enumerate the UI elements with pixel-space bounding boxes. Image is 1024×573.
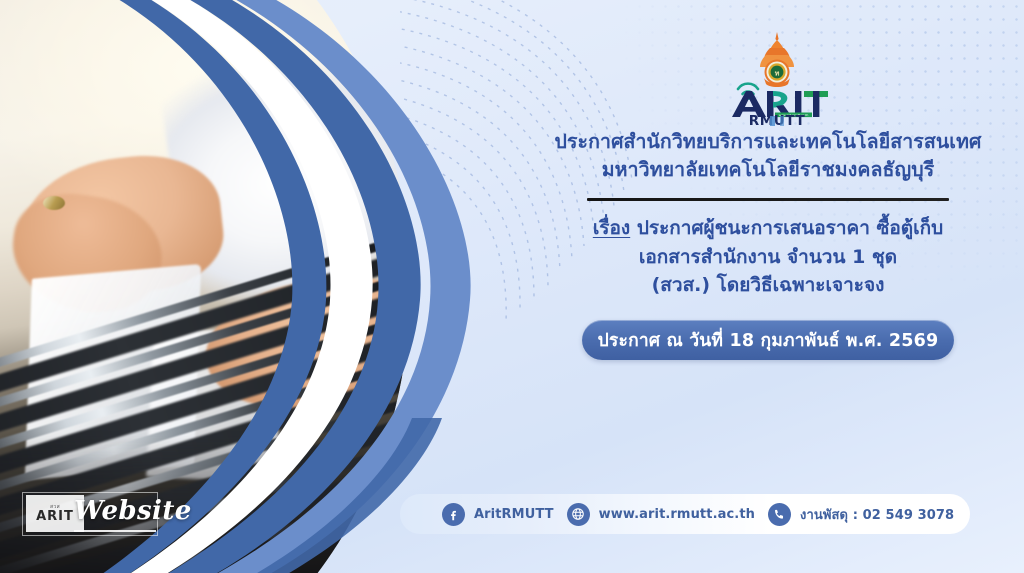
announcement-date-text: ประกาศ ณ วันที่ 18 กุมภาพันธ์ พ.ศ. 2569: [598, 326, 939, 354]
phone-icon: [768, 503, 791, 526]
contact-facebook-label: AritRMUTT: [474, 507, 554, 522]
contact-phone-label: งานพัสดุ : 02 549 3078: [800, 504, 954, 525]
svg-text:ท: ท: [775, 68, 780, 77]
watermark-word: Website: [74, 496, 192, 526]
org-title-line2: มหาวิทยาลัยเทคโนโลยีราชมงคลธัญบุรี: [512, 156, 1024, 184]
announcement-content: ประกาศสำนักวิทยบริการและเทคโนโลยีสารสนเท…: [512, 128, 1024, 360]
hands-filing-documents-photo: [0, 0, 420, 573]
watermark-arit-text: ARIT: [36, 510, 74, 523]
poster-canvas: สวส ARIT Website ท: [0, 0, 1024, 573]
svg-text:RMUTT: RMUTT: [749, 113, 806, 126]
contact-phone[interactable]: งานพัสดุ : 02 549 3078: [768, 503, 954, 526]
subject-line1-rest: ประกาศผู้ชนะการเสนอราคา ซื้อตู้เก็บ: [630, 217, 943, 239]
rmutt-emblem-icon: ท: [760, 32, 794, 87]
facebook-icon: [442, 503, 465, 526]
contact-bar: AritRMUTT www.arit.rmutt.ac.th งานพัสดุ …: [400, 494, 970, 534]
subject-line3: (สวส.) โดยวิธีเฉพาะเจาะจง: [512, 271, 1024, 300]
org-title: ประกาศสำนักวิทยบริการและเทคโนโลยีสารสนเท…: [512, 128, 1024, 184]
watermark-underline: [74, 530, 156, 532]
subject-block: เรื่อง ประกาศผู้ชนะการเสนอราคา ซื้อตู้เก…: [512, 214, 1024, 300]
globe-icon: [567, 503, 590, 526]
subject-keyword: เรื่อง: [593, 217, 630, 239]
contact-facebook[interactable]: AritRMUTT: [442, 503, 554, 526]
contact-website[interactable]: www.arit.rmutt.ac.th: [567, 503, 755, 526]
subject-line2: เอกสารสำนักงาน จำนวน 1 ชุด: [512, 243, 1024, 272]
announcement-date-badge: ประกาศ ณ วันที่ 18 กุมภาพันธ์ พ.ศ. 2569: [582, 320, 954, 360]
arit-rmutt-logo: ท www.arit.rmutt.ac.th: [718, 28, 836, 126]
title-divider: [587, 198, 949, 201]
rmutt-subtext: RMUTT: [749, 113, 806, 126]
contact-website-label: www.arit.rmutt.ac.th: [599, 507, 755, 522]
subject-line1: เรื่อง ประกาศผู้ชนะการเสนอราคา ซื้อตู้เก…: [512, 214, 1024, 243]
org-title-line1: ประกาศสำนักวิทยบริการและเทคโนโลยีสารสนเท…: [512, 128, 1024, 156]
website-watermark: สวส ARIT Website: [22, 492, 158, 536]
